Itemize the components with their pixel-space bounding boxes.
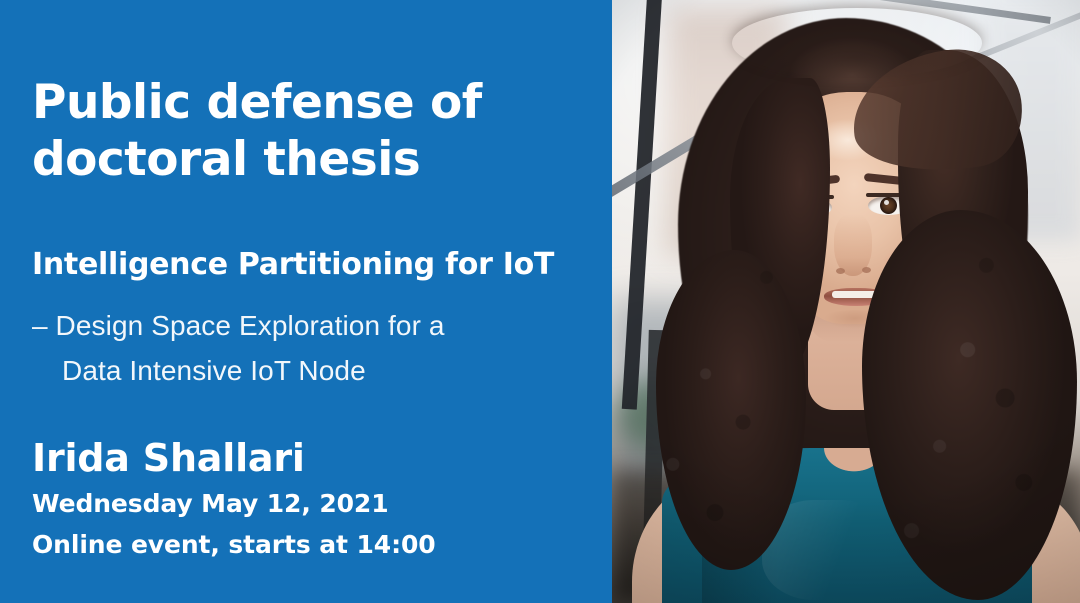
thesis-subtitle-line1: – Design Space Exploration for a: [32, 310, 445, 341]
event-date: Wednesday May 12, 2021: [32, 487, 389, 521]
portrait-subject: [612, 0, 1080, 603]
thesis-subtitle: – Design Space Exploration for a Data In…: [32, 303, 607, 393]
iris-right: [880, 197, 897, 214]
presenter-portrait-photo: [612, 0, 1080, 603]
panel-content: Public defense of doctoral thesis Intell…: [32, 0, 612, 603]
event-kicker: Public defense of doctoral thesis: [32, 74, 592, 188]
nostril-left: [836, 268, 845, 274]
blue-text-panel: Public defense of doctoral thesis Intell…: [0, 0, 612, 603]
hair-flyaway-strands: [732, 8, 982, 78]
event-kicker-line1: Public defense of: [32, 75, 482, 130]
event-announcement-poster: Public defense of doctoral thesis Intell…: [0, 0, 1080, 603]
event-kicker-line2: doctoral thesis: [32, 131, 592, 188]
nostril-right: [862, 267, 871, 273]
event-mode-and-time: Online event, starts at 14:00: [32, 528, 436, 562]
thesis-subtitle-line2: Data Intensive IoT Node: [32, 348, 607, 393]
presenter-name: Irida Shallari: [32, 434, 305, 482]
thesis-title: Intelligence Partitioning for IoT: [32, 245, 607, 285]
